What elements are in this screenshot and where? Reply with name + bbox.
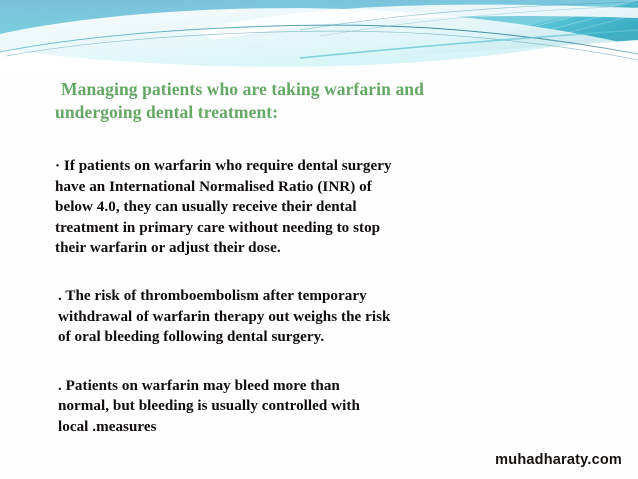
body-paragraph-1: · If patients on warfarin who require de… — [55, 156, 495, 259]
paragraph-line: . The risk of thromboembolism after temp… — [58, 286, 495, 307]
paragraph-line: their warfarin or adjust their dose. — [55, 238, 495, 259]
paragraph-line: treatment in primary care without needin… — [55, 218, 495, 239]
slide-canvas: Managing patients who are taking warfari… — [0, 0, 638, 479]
paragraph-line: have an International Normalised Ratio (… — [55, 177, 495, 198]
paragraph-line: below 4.0, they can usually receive thei… — [55, 197, 495, 218]
paragraph-line: normal, but bleeding is usually controll… — [58, 396, 495, 417]
paragraph-line: . Patients on warfarin may bleed more th… — [58, 376, 495, 397]
footer-watermark: muhadharaty.com — [495, 452, 622, 468]
slide-title-line-2: undergoing dental treatment: — [55, 101, 525, 124]
teal-wave-banner — [0, 0, 638, 72]
paragraph-line: · If patients on warfarin who require de… — [55, 156, 495, 177]
slide-title-line-1: Managing patients who are taking warfari… — [55, 78, 525, 101]
paragraph-line: local .measures — [58, 417, 495, 438]
paragraph-line: of oral bleeding following dental surger… — [58, 327, 495, 348]
body-paragraph-3: . Patients on warfarin may bleed more th… — [58, 376, 495, 438]
paragraph-line: withdrawal of warfarin therapy out weigh… — [58, 307, 495, 328]
body-paragraph-2: . The risk of thromboembolism after temp… — [58, 286, 495, 348]
slide-title: Managing patients who are taking warfari… — [55, 78, 525, 124]
slide-body: · If patients on warfarin who require de… — [55, 156, 495, 438]
